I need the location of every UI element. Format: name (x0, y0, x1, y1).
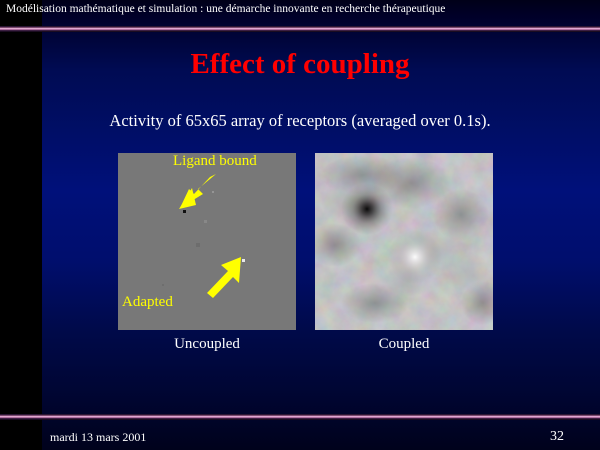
noise-pixel-c (196, 243, 200, 247)
heatmap-coupled (315, 153, 493, 330)
header-divider-rule (0, 26, 600, 32)
ligand-bound-pixel (183, 210, 186, 213)
noise-pixel-d (162, 284, 164, 286)
arrow-down-left-icon (176, 172, 218, 210)
page-subtitle: Activity of 65x65 array of receptors (av… (0, 111, 600, 131)
slide-header: Modélisation mathématique et simulation … (6, 3, 445, 15)
footer-divider-rule (0, 414, 600, 420)
footer-page-number: 32 (550, 429, 564, 445)
noise-pixel-b (204, 220, 207, 223)
slide: Modélisation mathématique et simulation … (0, 0, 600, 450)
annotation-adapted: Adapted (122, 294, 173, 311)
coupled-field-svg (315, 153, 493, 330)
page-title: Effect of coupling (0, 48, 600, 81)
arrow-up-right-icon (205, 255, 245, 299)
caption-coupled: Coupled (315, 336, 493, 353)
caption-uncoupled: Uncoupled (118, 336, 296, 353)
footer-date: mardi 13 mars 2001 (50, 430, 146, 445)
annotation-ligand-bound: Ligand bound (173, 153, 257, 170)
